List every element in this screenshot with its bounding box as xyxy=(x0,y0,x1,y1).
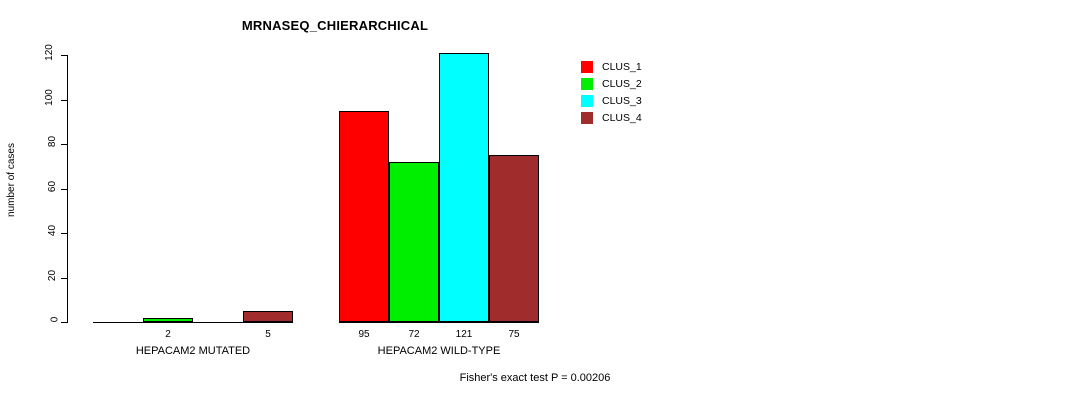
y-axis-line xyxy=(67,55,68,323)
y-tick-label-text: 120 xyxy=(44,44,55,61)
y-tick-20 xyxy=(61,278,67,279)
y-tick-label-text: 20 xyxy=(47,269,58,280)
fisher-test-annotation: Fisher's exact test P = 0.00206 xyxy=(460,372,611,384)
y-tick-label-60: 60 xyxy=(18,181,58,192)
bar-value-label: 5 xyxy=(243,329,293,340)
bar-value-label: 95 xyxy=(339,329,389,340)
y-tick-label-100: 100 xyxy=(18,92,58,103)
chart-canvas: MRNASEQ_CHIERARCHICAL 020406080100120 nu… xyxy=(0,0,1090,400)
bar-clus_4[interactable] xyxy=(243,311,293,322)
group-baseline xyxy=(339,322,539,323)
legend-item-label: CLUS_4 xyxy=(602,111,642,125)
legend-swatch-icon xyxy=(581,61,593,73)
bar-value-label: 75 xyxy=(489,329,539,340)
y-tick-label-20: 20 xyxy=(18,270,58,281)
footer-row: Fisher's exact test P = 0.00206 xyxy=(0,372,1090,384)
bar-clus_1[interactable] xyxy=(339,111,389,322)
y-tick-label-text: 80 xyxy=(47,136,58,147)
group-label-mutated: HEPACAM2 MUTATED xyxy=(73,345,313,357)
legend-item-label: CLUS_3 xyxy=(602,94,642,108)
y-axis-title-text: number of cases xyxy=(6,143,17,217)
legend-item-label: CLUS_1 xyxy=(602,60,642,74)
legend-swatch-icon xyxy=(581,78,593,90)
y-axis-title: number of cases xyxy=(6,120,22,240)
y-tick-120 xyxy=(61,55,67,56)
y-tick-80 xyxy=(61,144,67,145)
y-tick-label-text: 60 xyxy=(47,180,58,191)
bar-clus_3[interactable] xyxy=(439,53,489,322)
legend-item-label: CLUS_2 xyxy=(602,77,642,91)
group-baseline xyxy=(93,322,293,323)
bar-value-label: 121 xyxy=(439,329,489,340)
y-tick-label-text: 0 xyxy=(50,317,61,323)
group-label-wild-type: HEPACAM2 WILD-TYPE xyxy=(319,345,559,357)
y-tick-60 xyxy=(61,189,67,190)
bar-clus_2[interactable] xyxy=(389,162,439,322)
y-tick-0 xyxy=(61,322,67,323)
bar-value-label: 72 xyxy=(389,329,439,340)
plot-area: 020406080100120 number of cases 25HEPACA… xyxy=(0,0,700,400)
legend-swatch-icon xyxy=(581,95,593,107)
y-tick-100 xyxy=(61,100,67,101)
y-tick-label-80: 80 xyxy=(18,136,58,147)
y-tick-label-0: 0 xyxy=(18,314,58,325)
bar-clus_2[interactable] xyxy=(143,318,193,322)
legend-swatch-icon xyxy=(581,112,593,124)
y-tick-40 xyxy=(61,233,67,234)
y-tick-label-text: 100 xyxy=(44,89,55,106)
y-tick-label-120: 120 xyxy=(18,47,58,58)
bar-value-label: 2 xyxy=(143,329,193,340)
y-tick-label-text: 40 xyxy=(47,225,58,236)
y-tick-label-40: 40 xyxy=(18,225,58,236)
bar-clus_4[interactable] xyxy=(489,155,539,322)
